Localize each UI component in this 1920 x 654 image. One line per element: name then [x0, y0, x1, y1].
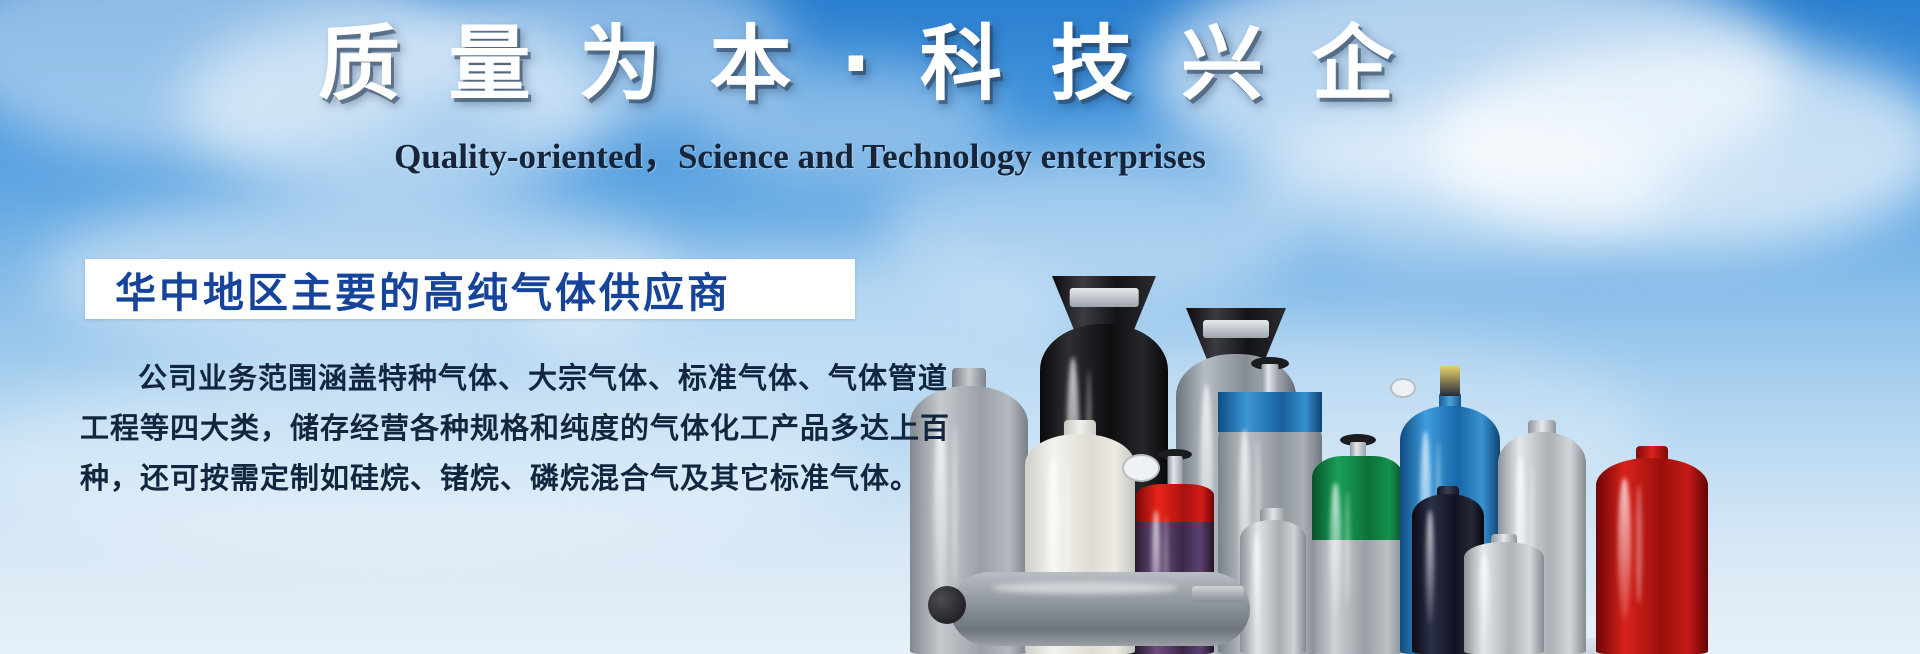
slogan-text: 华中地区主要的高纯气体供应商	[115, 259, 731, 319]
description-paragraph: 公司业务范围涵盖特种气体、大宗气体、标准气体、气体管道 工程等四大类，储存经营各…	[80, 355, 880, 505]
promo-banner: 质 量 为 本 · 科 技 兴 企 Quality-oriented，Scien…	[0, 0, 1920, 654]
cylinder-body	[1464, 542, 1544, 654]
green-cylinder	[1312, 432, 1404, 654]
tank-end-cap	[928, 586, 966, 624]
horizontal-tank	[950, 572, 1250, 646]
cylinder-valve-stem	[1440, 366, 1460, 396]
tank-valve	[1192, 586, 1244, 602]
page-title: 质 量 为 本 · 科 技 兴 企	[318, 22, 1278, 108]
cylinder-body	[1240, 520, 1306, 654]
paragraph-line: 公司业务范围涵盖特种气体、大宗气体、标准气体、气体管道	[80, 355, 880, 405]
small-silver-cylinder	[1240, 504, 1306, 654]
red-cylinder	[1596, 424, 1708, 654]
page-subtitle: Quality-oriented，Science and Technology …	[300, 135, 1300, 179]
silver-front-cylinder	[1464, 528, 1544, 654]
paragraph-line: 种，还可按需定制如硅烷、锗烷、磷烷混合气及其它标准气体。	[80, 455, 880, 505]
paragraph-line: 工程等四大类，储存经营各种规格和纯度的气体化工产品多达上百	[80, 405, 880, 455]
slogan-box: 华中地区主要的高纯气体供应商	[85, 259, 855, 319]
pressure-gauge-icon	[1122, 454, 1160, 482]
pressure-gauge-icon	[1390, 378, 1416, 398]
cylinder-body	[1596, 458, 1708, 654]
cylinder-body	[1312, 464, 1404, 654]
